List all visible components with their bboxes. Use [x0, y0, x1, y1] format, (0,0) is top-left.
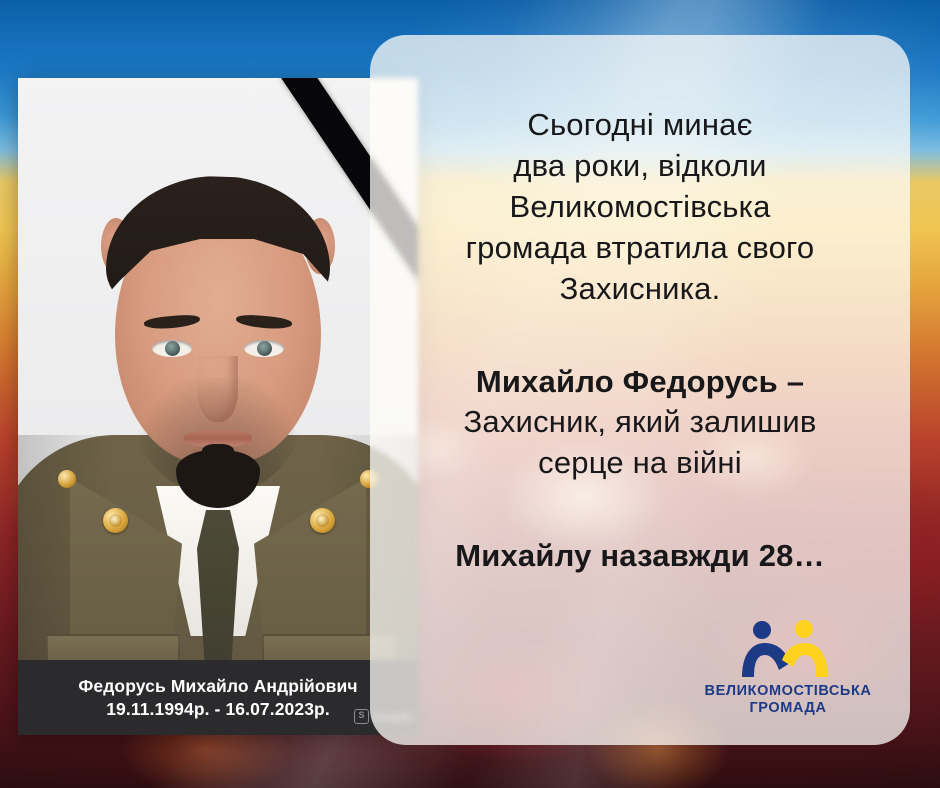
- message-line: Великомостівська: [404, 187, 876, 228]
- caption-dates: 19.11.1994р. - 16.07.2023р.: [106, 699, 330, 720]
- caption-name: Федорусь Михайло Андрійович: [78, 676, 357, 697]
- portrait-nose: [198, 356, 238, 422]
- two-figures-icon: [732, 620, 844, 678]
- message-paragraph-1: Сьогодні минає два роки, відколи Великом…: [404, 105, 876, 310]
- message-line: громада втратила свого: [404, 228, 876, 269]
- message-paragraph-2: Михайло Федорусь – Захисник, який залиши…: [404, 362, 876, 485]
- message-line: Михайлу назавжди 28…: [404, 536, 876, 577]
- portrait-eye-right: [244, 340, 284, 357]
- snapedit-mark-icon: S: [354, 709, 369, 724]
- soldier-portrait-photo: ФЕДОРУСЬ: [18, 78, 418, 735]
- message-paragraph-3: Михайлу назавжди 28…: [404, 536, 876, 577]
- portrait-caption-plate: Федорусь Михайло Андрійович 19.11.1994р.…: [18, 660, 418, 735]
- collar-insignia-right-icon: [310, 508, 335, 533]
- collar-insignia-left-icon: [103, 508, 128, 533]
- message-line: Захисник, який залишив: [404, 402, 876, 443]
- message-line: Сьогодні минає: [404, 105, 876, 146]
- portrait-eye-left: [152, 340, 192, 357]
- logo-line-2: ГРОМАДА: [704, 700, 872, 717]
- message-line: Захисника.: [404, 269, 876, 310]
- memorial-poster: ФЕДОРУСЬ Федорусь Михайло Андрійович 19.…: [0, 0, 940, 788]
- portrait-card: ФЕДОРУСЬ Федорусь Михайло Андрійович 19.…: [18, 78, 418, 735]
- message-line: серце на війні: [404, 443, 876, 484]
- shoulder-insignia-left-icon: [58, 470, 76, 488]
- soldier-name-line: Михайло Федорусь –: [404, 362, 876, 403]
- logo-text: ВЕЛИКОМОСТІВСЬКА ГРОМАДА: [704, 683, 872, 717]
- logo-line-1: ВЕЛИКОМОСТІВСЬКА: [704, 683, 872, 700]
- message-panel: Сьогодні минає два роки, відколи Великом…: [370, 35, 910, 745]
- community-logo: ВЕЛИКОМОСТІВСЬКА ГРОМАДА: [704, 620, 872, 717]
- message-line: два роки, відколи: [404, 146, 876, 187]
